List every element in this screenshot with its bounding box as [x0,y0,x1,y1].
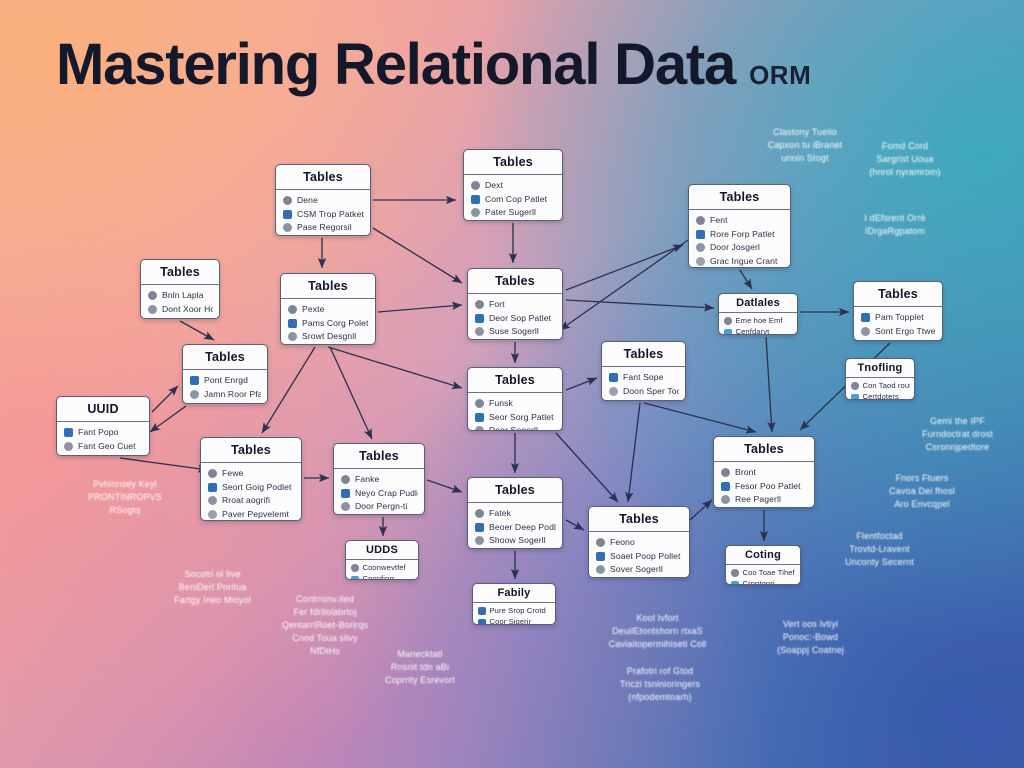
entity-field-label: Comfgent [623,400,661,401]
entity-node-title: Tables [334,444,424,469]
diagram-annotation: I dEfsrent Orré IDrgaRgpatom [840,212,950,238]
entity-field-row: Contfaget [288,344,369,346]
clock-icon [208,496,217,505]
entity-node-title: UUID [57,397,149,422]
key-icon [475,509,484,518]
entity-node[interactable]: TablesFant SopeDoon Sper ToortComfgent [601,341,686,401]
note-icon [609,387,618,396]
table-icon [148,318,157,319]
diagram-annotation: Gemi the IPF Furndoctrat drost Csronnjpe… [895,415,1020,454]
entity-field-row: Dene [283,194,364,208]
entity-node-title: Tables [602,342,685,367]
entity-field-label: Fewe [222,469,243,478]
note-icon [208,510,217,519]
entity-field-label: Paver Pepvelemt [222,510,289,519]
table-icon [851,394,859,401]
entity-field-label: Coonwevtfef [363,564,406,572]
entity-field-list: Bnln LaplaDont Xoor HontBoontaryar [141,285,219,319]
fk-icon [475,314,484,323]
entity-node-title: Tables [689,185,790,210]
entity-field-label: CSM Trop Patket [297,210,364,219]
entity-field-label: Seort Goig Podlet [222,483,292,492]
entity-field-label: Coor Sigerir [490,618,532,625]
entity-field-label: Pure Srop Crotd [490,607,546,615]
entity-field-row: CSM Trop Patket [283,208,364,222]
entity-field-label: Grac Ingue Crant [710,257,778,266]
entity-field-label: Doon Sper Toort [623,387,679,396]
fk-icon [478,619,486,626]
entity-field-row: Dext [471,179,556,193]
diagram-annotation: Mariecktatl Rnsnit tdn aBi Coprrity Esre… [355,648,485,687]
entity-field-label: Fant Geo Cuet [78,442,136,451]
clock-icon [341,502,350,511]
entity-field-label: Soaet Poop Pollet [610,552,681,561]
entity-field-label: Contfees [204,403,239,404]
entity-field-row: Fesor Poo Patlet [721,480,808,494]
relationship-edge [566,520,584,530]
entity-field-label: Funsk [489,399,513,408]
fk-icon [696,230,705,239]
entity-field-row: Jamn Roor Pfant [190,388,261,402]
entity-field-label: Ree Pagerll [735,495,781,504]
entity-field-list: FatekBeoer Deep PodletShoow SogerllConvo… [468,503,562,549]
key-icon [721,468,730,477]
entity-field-row: Rroat aogrifi [208,494,295,508]
entity-field-label: Seor Sorg Patlet [489,413,554,422]
entity-field-row: Consfipea [64,453,143,456]
entity-field-list: DeneCSM Trop PatketPase RegorsilConstgon… [276,190,370,236]
diagram-annotation: Kool Ivfort DeuilEtontshorn rtxaS Caviai… [585,612,730,651]
relationship-edge [120,458,208,470]
key-icon [471,181,480,190]
clock-icon [471,208,480,217]
entity-field-label: Fant Sope [623,373,664,382]
entity-field-label: Eme hoe Emf [736,317,783,325]
page-title: Mastering Relational Data ORM [56,36,811,94]
entity-field-row: Fort [475,298,556,312]
entity-field-row: Pam Topplet [861,311,936,325]
entity-field-list: CoonwevtfefCnonfiorr [346,560,418,580]
key-icon [283,196,292,205]
table-icon [64,455,73,456]
entity-field-row: Sont Ergo Ttwel [861,325,936,339]
fk-icon [64,428,73,437]
relationship-edge [152,386,178,412]
entity-field-row: Rore Forp Patlet [696,228,784,242]
entity-field-row: Coonwevtfef [351,562,414,574]
entity-field-row: Com Cop Patlet [471,193,556,207]
entity-field-label: Fatek [489,509,511,518]
entity-field-row: Funsk [475,397,556,411]
entity-node-title: Fabily [473,584,555,603]
entity-node-title: Tables [468,478,562,503]
entity-field-label: Sont Ergo Ttwel [875,327,936,336]
entity-field-row: Pexte [288,303,369,317]
entity-field-row: Con Taod routl [851,380,910,392]
entity-field-row: Constgonr [283,235,364,237]
entity-field-row: Pater Sugerll [471,206,556,220]
diagram-annotation: Clastony Tueiio Capxon tu iBranet unnin … [745,126,865,165]
relationship-edge [556,433,618,502]
entity-field-row: Suse Sogerll [475,325,556,339]
entity-field-label: Door Josgerl [710,243,760,252]
relationship-edge [378,305,462,312]
entity-field-list: Coo Toae TihefCrontonri [726,565,800,585]
entity-field-label: Certdoters [863,393,899,400]
entity-field-label: Fant Popo [78,428,119,437]
entity-field-row: Cenfdarvt [724,327,793,336]
entity-field-row: Fent [696,214,784,228]
entity-field-row: Covrfanx [341,514,418,516]
diagram-annotation: Flentfoctad Trovtd-Lravent Unconty Secer… [822,530,937,569]
entity-field-list: FeonoSoaet Poop PolletSover SogerllConvf… [589,532,689,578]
entity-field-label: Neyo Crap Pudler [355,489,418,498]
entity-node[interactable]: TablesFatekBeoer Deep PodletShoow Sogerl… [467,477,563,549]
entity-field-row: Door Josgerl [696,241,784,255]
entity-field-label: Beoer Deep Podlet [489,523,556,532]
entity-field-row: Convoxhoox [475,548,556,550]
entity-field-label: Bnln Lapla [162,291,204,300]
entity-field-label: Suse Sogerll [489,327,539,336]
entity-field-row: Fant Sope [609,371,679,385]
entity-field-label: Pam Topplet [875,313,924,322]
relationship-edge [644,403,756,432]
entity-node-title: Tables [468,368,562,393]
entity-field-row: Pont Enrgd [190,374,261,388]
entity-field-list: FunskSeor Sorg PatletDeor Sogerll [468,393,562,431]
entity-field-row: Fant Geo Cuet [64,440,143,454]
entity-field-row: Srowt Desgnll [288,330,369,344]
entity-field-row: Crontonri [731,579,796,586]
entity-field-list: Pam ToppletSont Ergo TtwelCurnfams [854,307,942,341]
entity-field-row: Feono [596,536,683,550]
entity-field-row: Fatek [475,507,556,521]
key-icon [351,564,359,572]
key-icon [341,475,350,484]
entity-node-title: Coting [726,546,800,565]
fk-icon [475,523,484,532]
entity-node-title: Tables [468,269,562,294]
entity-field-row: Fewe [208,467,295,481]
diagram-annotation: Pvhinnsey Keyl PRONTINROPVS RSogtq [60,478,190,517]
relationship-edge [740,270,752,289]
diagram-annotation: Fnors Ftuers Cavoa Dei fhosl Aro Envcqpe… [862,472,982,511]
entity-field-label: Shoow Sogerll [489,536,546,545]
diagram-annotation: Socotri ol Iive BeniDerl Pnritua Fartgy … [140,568,285,607]
entity-node[interactable]: TablesFankeNeyo Crap PudlerDoor Pergn-ti… [333,443,425,515]
entity-field-label: Fanke [355,475,379,484]
entity-field-label: Fesor Poo Patlet [735,482,801,491]
entity-field-row: Covnhene [471,220,556,222]
relationship-edge [330,347,372,439]
entity-field-row: Beoer Deep Podlet [475,521,556,535]
entity-field-row: Fanke [341,473,418,487]
entity-field-row: Pams Corg Polet [288,317,369,331]
relationship-edge [566,300,714,308]
entity-field-label: Boontaryar [162,318,205,319]
entity-field-row: Seort Goig Podlet [208,481,295,495]
entity-node-title: Tables [854,282,942,307]
entity-field-row: Cvrnfames [721,507,808,509]
entity-node[interactable]: TnoflingCon Taod routlCertdoters [845,358,915,400]
entity-field-label: Sover Sogerll [610,565,663,574]
entity-node[interactable]: TablesDeneCSM Trop PatketPase RegorsilCo… [275,164,371,236]
entity-node[interactable]: FabilyPure Srop CrotdCoor Sigerir [472,583,556,625]
entity-field-label: Consfipea [78,455,118,456]
entity-field-label: Crontonri [743,580,775,585]
entity-node[interactable]: TablesFeonoSoaet Poop PolletSover Sogerl… [588,506,690,578]
entity-field-row: Deor Sop Patlet [475,312,556,326]
clock-icon [148,305,157,314]
entity-field-row: Soaet Poop Pollet [596,550,683,564]
entity-field-row: Shoow Sogerll [475,534,556,548]
entity-field-list: Eme hoe EmfCenfdarvt [719,313,797,335]
entity-field-list: FentRore Forp PatletDoor JosgerlGrac Ing… [689,210,790,268]
entity-node[interactable]: TablesPont EnrgdJamn Roor PfantContfees [182,344,268,404]
entity-field-label: Cenfdarvt [736,328,770,335]
entity-field-label: Jamn Roor Pfant [204,390,261,399]
fk-icon [721,482,730,491]
diagram-annotation: Vert oos lvtiyi Ponoc:-Bowd (Soappj Coat… [748,618,873,657]
fk-icon [609,373,618,382]
fk-icon [475,413,484,422]
fk-icon [471,195,480,204]
entity-field-row: Ree Pagerll [721,493,808,507]
clock-icon [190,390,199,399]
entity-field-list: FankeNeyo Crap PudlerDoor Pergn-tiCovrfa… [334,469,424,515]
key-icon [731,569,739,577]
entity-field-row: Pure Srop Crotd [478,605,551,617]
entity-field-row: Coo Toae Tihef [731,567,796,579]
key-icon [724,317,732,325]
entity-node-title: Tables [589,507,689,532]
entity-field-label: Fort [489,300,505,309]
entity-node[interactable]: TablesPextePams Corg PoletSrowt DesgnllC… [280,273,376,345]
fk-icon [288,319,297,328]
table-icon [609,400,618,401]
entity-field-label: Curnfams [875,340,913,341]
entity-field-row: Certdoters [851,392,910,401]
entity-node[interactable]: UDDSCoonwevtfefCnonfiorr [345,540,419,580]
relationship-edge [566,378,597,390]
fk-icon [283,210,292,219]
table-icon [724,329,732,336]
entity-field-row: Seor Sorg Patlet [475,411,556,425]
relationship-edge [373,228,462,283]
entity-field-row: Convfanws [596,577,683,579]
entity-field-label: Pater Sugerll [485,208,536,217]
entity-field-label: Bront [735,468,756,477]
entity-node-title: Tables [276,165,370,190]
entity-field-row: Pase Regorsil [283,221,364,235]
entity-field-label: Coo Toae Tihef [743,569,795,577]
entity-field-label: Pase Regorsil [297,223,352,232]
entity-field-row: Cnonfiorr [351,574,414,581]
entity-field-label: Pont Enrgd [204,376,248,385]
entity-node[interactable]: UUIDFant PopoFant Geo CuetConsfipea [56,396,150,456]
entity-field-label: Fent [710,216,728,225]
clock-icon [475,536,484,545]
entity-field-row: Grac Ingue Crant [696,255,784,269]
entity-node[interactable]: TablesPam ToppletSont Ergo TtwelCurnfams [853,281,943,341]
entity-node-title: Tables [714,437,814,462]
entity-field-list: Con Taod routlCertdoters [846,378,914,400]
clock-icon [475,426,484,431]
diagram-annotation: Fomd Cord Sargrist Uoua (hnrol nyramrom) [845,140,965,179]
entity-field-list: Pont EnrgdJamn Roor PfantContfees [183,370,267,404]
diagram-canvas: Mastering Relational Data ORM TablesDene… [0,0,1024,768]
clock-icon [64,442,73,451]
entity-field-label: Dene [297,196,318,205]
entity-node-title: Datlales [719,294,797,313]
entity-field-row: Dont Xoor Hont [148,303,213,317]
key-icon [475,300,484,309]
entity-field-label: Dont Xoor Hont [162,305,213,314]
entity-field-row: Doon Sper Toort [609,385,679,399]
entity-field-list: FeweSeort Goig PodletRroat aogrifiPaver … [201,463,301,521]
entity-node[interactable]: TablesBnln LaplaDont Xoor HontBoontaryar [140,259,220,319]
entity-field-label: Con Taod routl [863,382,911,390]
fk-icon [861,313,870,322]
entity-node[interactable]: TablesBrontFesor Poo PatletRee PagerllCv… [713,436,815,508]
diagram-annotation: Prafotri rof Gtod Triczi tsninioringers … [590,665,730,704]
relationship-edge [628,403,640,502]
key-icon [208,469,217,478]
key-icon [475,399,484,408]
clock-icon [696,243,705,252]
clock-icon [596,565,605,574]
entity-node[interactable]: TablesDextCom Cop PatletPater SugerllCov… [463,149,563,221]
clock-icon [861,327,870,336]
entity-node[interactable]: DatlalesEme hoe EmfCenfdarvt [718,293,798,335]
entity-field-row: Coor Sigerir [478,617,551,626]
title-subtitle-text: ORM [749,62,811,88]
entity-field-row: Sover Sogerll [596,563,683,577]
entity-field-label: Rroat aogrifi [222,496,270,505]
entity-field-list: Fant SopeDoon Sper ToortComfgent [602,367,685,401]
title-main-text: Mastering Relational Data [56,36,735,94]
table-icon [731,581,739,586]
relationship-edge [150,406,186,432]
table-icon [190,403,199,404]
key-icon [851,382,859,390]
table-icon [861,340,870,341]
entity-field-row: Contfees [190,401,261,404]
entity-node[interactable]: TablesFunskSeor Sorg PatletDeor Sogerll [467,367,563,431]
relationship-edge [766,337,772,432]
entity-field-row: Boontaryar [148,316,213,319]
clock-icon [721,495,730,504]
entity-field-row: Curnfams [861,338,936,341]
entity-field-row: Comfgent [609,398,679,401]
entity-node-title: Tables [464,150,562,175]
entity-field-label: Pams Corg Polet [302,319,368,328]
entity-field-row: Door Pergn-ti [341,500,418,514]
entity-field-list: FortDeor Sop PatletSuse SogerllContfegon… [468,294,562,340]
fk-icon [341,489,350,498]
entity-field-label: Door Pergn-ti [355,502,407,511]
diagram-annotation: Contrronv.ited Fer fdritolabrtoj Qentarr… [255,593,395,658]
entity-field-list: DextCom Cop PatletPater SugerllCovnhene [464,175,562,221]
entity-field-row: Eme hoe Emf [724,315,793,327]
entity-field-row: Deor Sogerll [475,424,556,431]
key-icon [288,305,297,314]
entity-field-list: Pure Srop CrotdCoor Sigerir [473,603,555,625]
entity-field-label: Cnonfiorr [363,575,395,580]
entity-node-title: Tables [183,345,267,370]
clock-icon [475,327,484,336]
entity-field-label: Deor Sop Patlet [489,314,551,323]
entity-field-label: Srowt Desgnll [302,332,356,341]
fk-icon [478,607,486,615]
relationship-edge [566,245,683,290]
entity-field-row: Paver Pepvelemt [208,508,295,522]
entity-node-title: Tables [281,274,375,299]
entity-node-title: Tnofling [846,359,914,378]
entity-field-label: Pexte [302,305,324,314]
fk-icon [208,483,217,492]
fk-icon [596,552,605,561]
entity-node[interactable]: CotingCoo Toae TihefCrontonri [725,545,801,585]
entity-field-list: Fant PopoFant Geo CuetConsfipea [57,422,149,456]
entity-field-row: Neyo Crap Pudler [341,487,418,501]
key-icon [596,538,605,547]
relationship-edge [262,347,315,433]
entity-field-label: Rore Forp Patlet [710,230,775,239]
entity-node[interactable]: TablesFentRore Forp PatletDoor JosgerlGr… [688,184,791,268]
entity-field-row: Bront [721,466,808,480]
entity-field-row: Fant Popo [64,426,143,440]
entity-node[interactable]: TablesFeweSeort Goig PodletRroat aogrifi… [200,437,302,521]
entity-field-list: PextePams Corg PoletSrowt DesgnllContfag… [281,299,375,345]
entity-field-label: Feono [610,538,635,547]
entity-node-title: Tables [201,438,301,463]
relationship-edge [690,500,712,520]
key-icon [148,291,157,300]
entity-node-title: Tables [141,260,219,285]
relationship-edge [427,480,462,492]
table-icon [351,576,359,581]
clock-icon [283,223,292,232]
entity-node-title: UDDS [346,541,418,560]
entity-field-row: Contfegont [475,339,556,341]
entity-field-label: Dext [485,181,503,190]
relationship-edge [328,347,462,388]
key-icon [696,216,705,225]
entity-field-row: Bnln Lapla [148,289,213,303]
clock-icon [288,332,297,341]
fk-icon [190,376,199,385]
relationship-edge [180,321,214,340]
relationship-edge [560,240,688,330]
entity-node[interactable]: TablesFortDeor Sop PatletSuse SogerllCon… [467,268,563,340]
entity-field-label: Com Cop Patlet [485,195,547,204]
entity-field-list: BrontFesor Poo PatletRee PagerllCvrnfame… [714,462,814,508]
note-icon [696,257,705,266]
entity-field-label: Deor Sogerll [489,426,538,431]
